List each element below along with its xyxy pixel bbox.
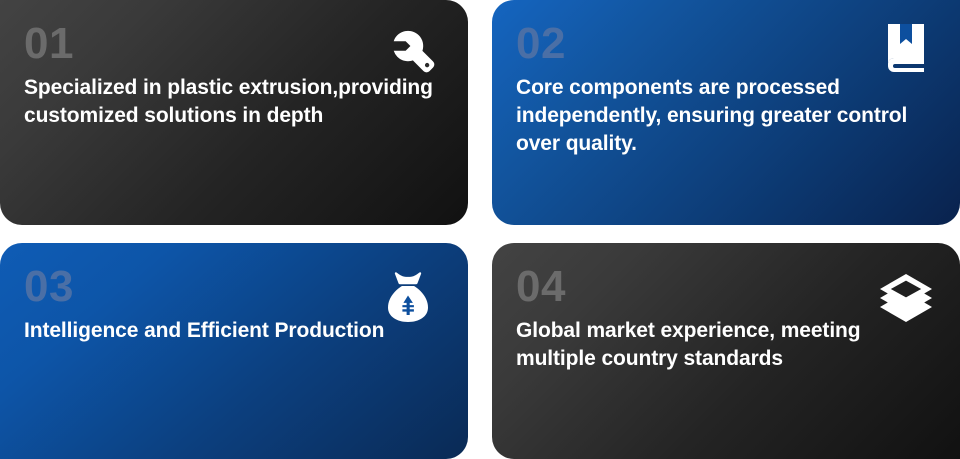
- feature-card-01[interactable]: 01 Specialized in plastic extrusion,prov…: [0, 0, 468, 225]
- feature-card-02[interactable]: 02 Core components are processed indepen…: [492, 0, 960, 225]
- card-text-04: Global market experience, meeting multip…: [516, 317, 934, 373]
- feature-card-03[interactable]: 03 Intelligence and Efficient Production: [0, 243, 468, 459]
- card-text-02: Core components are processed independen…: [516, 74, 934, 158]
- card-text-01: Specialized in plastic extrusion,providi…: [24, 74, 442, 130]
- feature-cards-grid: 01 Specialized in plastic extrusion,prov…: [0, 0, 960, 459]
- card-number-04: 04: [516, 265, 934, 309]
- feature-card-04[interactable]: 04 Global market experience, meeting mul…: [492, 243, 960, 459]
- card-number-02: 02: [516, 22, 934, 66]
- card-number-03: 03: [24, 265, 442, 309]
- card-text-03: Intelligence and Efficient Production: [24, 317, 442, 345]
- card-number-01: 01: [24, 22, 442, 66]
